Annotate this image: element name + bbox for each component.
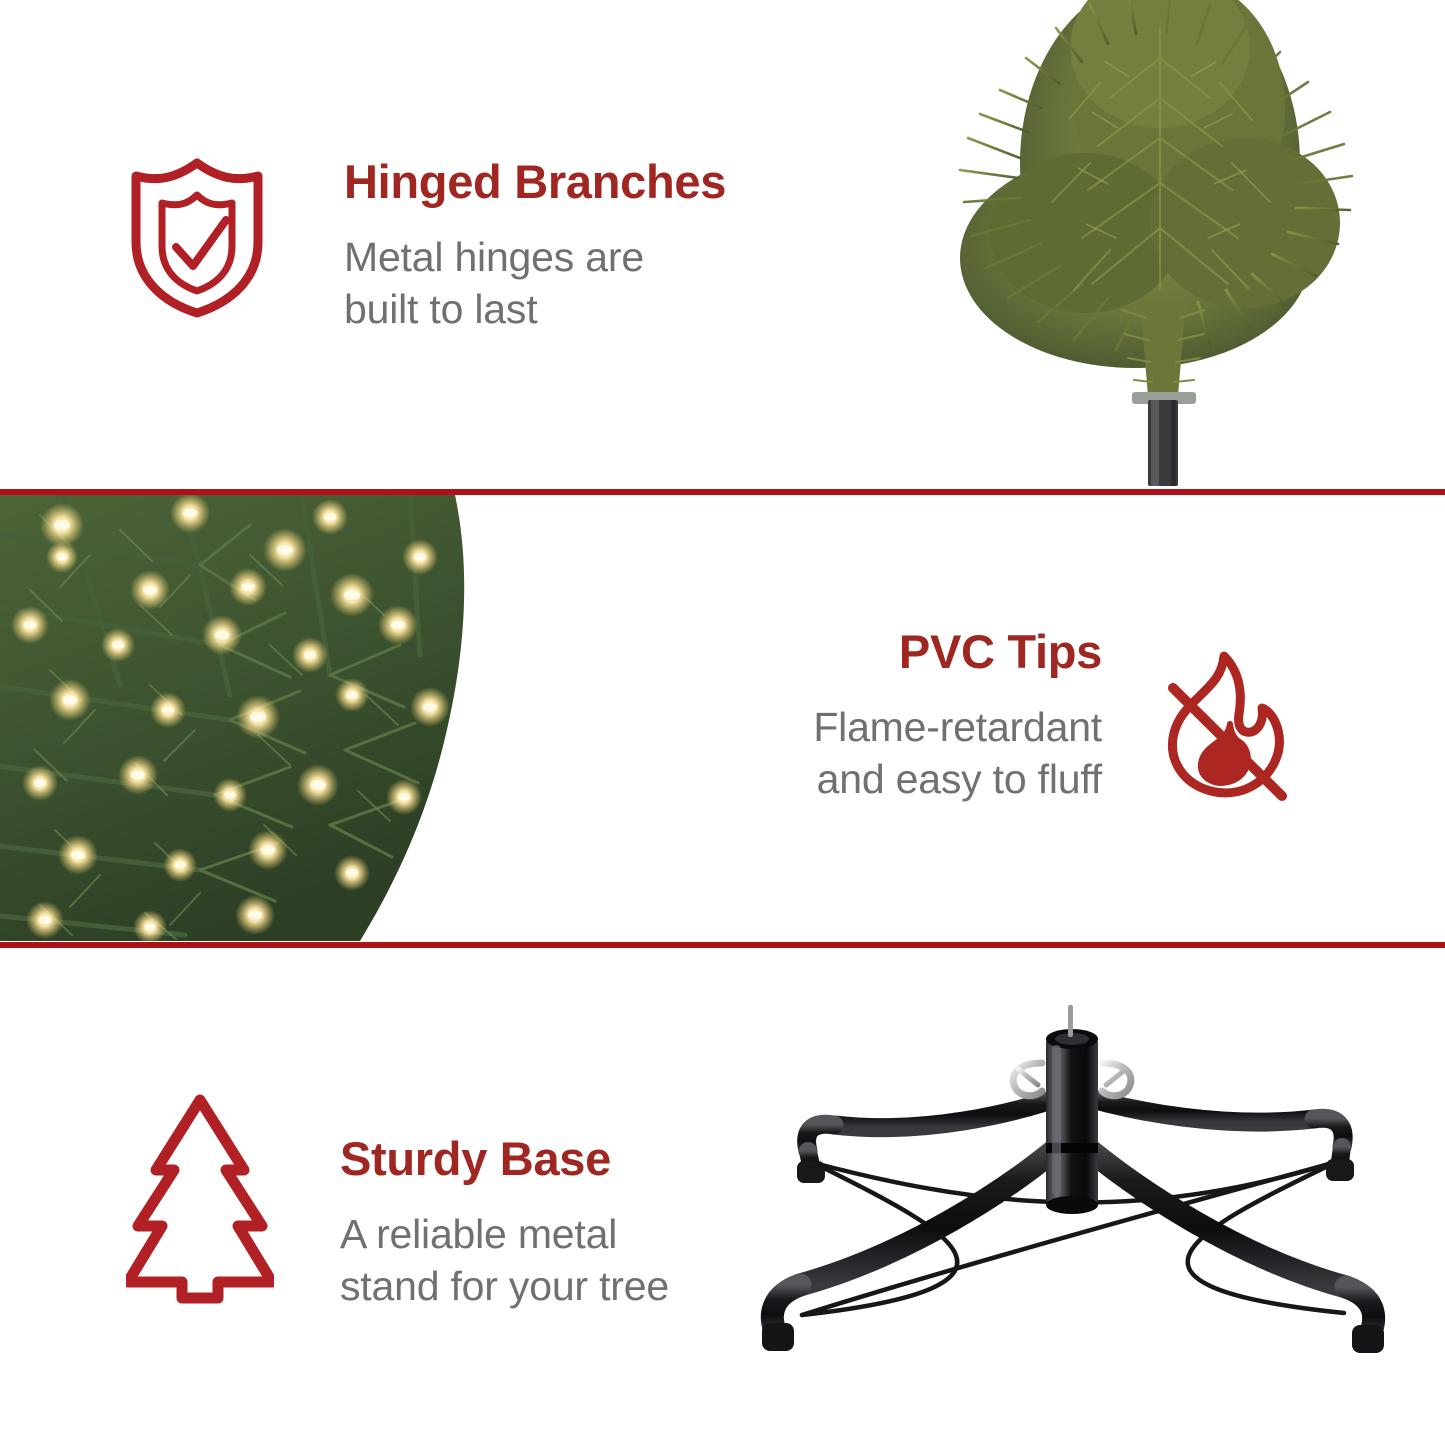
- feature-panel-sturdy-base: Sturdy Base A reliable metal stand for y…: [0, 948, 1445, 1445]
- black-metal-folding-tree-stand-photo: [742, 985, 1402, 1385]
- feature-desc-line: stand for your tree: [340, 1260, 669, 1312]
- christmas-tree-branch-section-photo: [860, 0, 1445, 488]
- feature-desc-hinged-branches: Metal hinges are built to last: [344, 231, 726, 336]
- feature-desc-line: Flame-retardant: [640, 701, 1102, 753]
- feature-desc-line: Metal hinges are: [344, 231, 726, 283]
- christmas-tree-outline-icon: [126, 1092, 274, 1306]
- feature-desc-pvc-tips: Flame-retardant and easy to fluff: [640, 701, 1102, 806]
- feature-desc-line: and easy to fluff: [640, 753, 1102, 805]
- feature-panel-pvc-tips: PVC Tips Flame-retardant and easy to flu…: [0, 495, 1445, 942]
- feature-title-pvc-tips: PVC Tips: [640, 628, 1102, 675]
- feature-desc-sturdy-base: A reliable metal stand for your tree: [340, 1208, 669, 1313]
- feature-title-hinged-branches: Hinged Branches: [344, 158, 726, 205]
- feature-desc-line: built to last: [344, 283, 726, 335]
- feature-text-pvc-tips: PVC Tips Flame-retardant and easy to flu…: [640, 628, 1102, 806]
- feature-infographic: Hinged Branches Metal hinges are built t…: [0, 0, 1445, 1445]
- no-flame-icon: [1158, 646, 1294, 804]
- feature-desc-line: A reliable metal: [340, 1208, 669, 1260]
- feature-title-sturdy-base: Sturdy Base: [340, 1135, 669, 1182]
- shield-check-icon: [128, 156, 266, 318]
- feature-text-hinged-branches: Hinged Branches Metal hinges are built t…: [344, 158, 726, 336]
- feature-text-sturdy-base: Sturdy Base A reliable metal stand for y…: [340, 1135, 669, 1313]
- feature-panel-hinged-branches: Hinged Branches Metal hinges are built t…: [0, 0, 1445, 489]
- pre-lit-christmas-tree-closeup-photo: [0, 495, 530, 941]
